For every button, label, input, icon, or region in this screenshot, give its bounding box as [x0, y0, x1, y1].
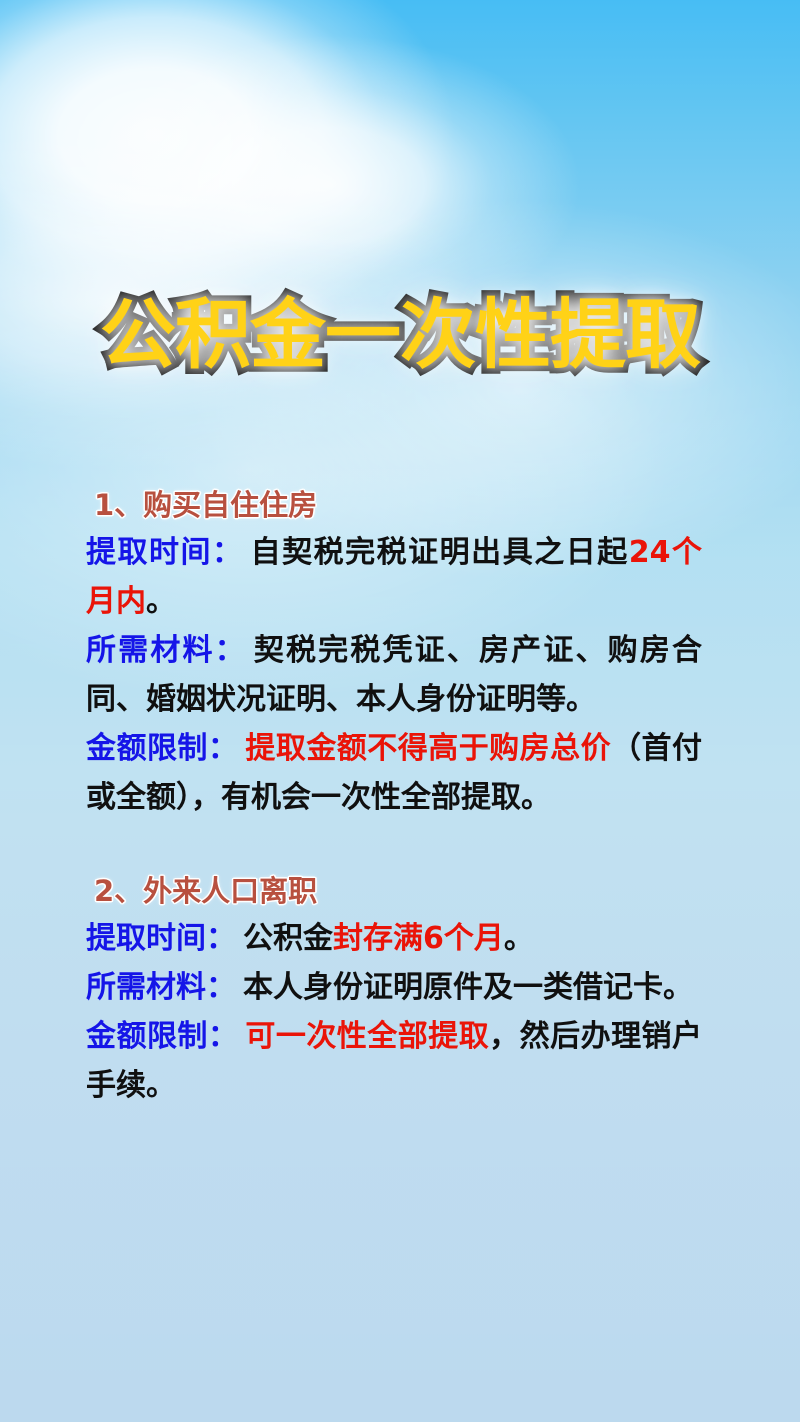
info-row-label: 金额限制： — [86, 1019, 238, 1054]
info-row-label: 提取时间： — [86, 921, 236, 956]
info-row-highlight: 封存满6个月 — [333, 921, 504, 956]
info-row: 所需材料：本人身份证明原件及一类借记卡。 — [86, 963, 702, 1012]
info-row-highlight: 提取金额不得高于购房总价 — [245, 731, 611, 766]
section-heading: 1、购买自住住房 — [94, 484, 702, 526]
info-row-text: 自契税完税证明出具之日起 — [251, 535, 629, 570]
info-row: 所需材料：契税完税凭证、房产证、购房合同、婚姻状况证明、本人身份证明等。 — [86, 626, 702, 724]
section-heading: 2、外来人口离职 — [94, 870, 702, 912]
info-row-text: 。 — [504, 921, 534, 956]
poster-body: 1、购买自住住房提取时间：自契税完税证明出具之日起24个月内。所需材料：契税完税… — [86, 484, 702, 1110]
content-section: 1、购买自住住房提取时间：自契税完税证明出具之日起24个月内。所需材料：契税完税… — [86, 484, 702, 822]
info-row-label: 所需材料： — [86, 970, 236, 1005]
info-row-highlight: 可一次性全部提取 — [245, 1019, 489, 1054]
info-row-text: 公积金 — [243, 921, 333, 956]
info-row-label: 提取时间： — [86, 535, 244, 570]
info-row-label: 所需材料： — [86, 633, 247, 668]
poster-title-block: 公积金一次性提取 — [0, 292, 800, 378]
info-row: 金额限制：提取金额不得高于购房总价（首付或全额），有机会一次性全部提取。 — [86, 724, 702, 822]
content-section: 2、外来人口离职提取时间：公积金封存满6个月。所需材料：本人身份证明原件及一类借… — [86, 870, 702, 1110]
poster-canvas: 公积金一次性提取 1、购买自住住房提取时间：自契税完税证明出具之日起24个月内。… — [0, 0, 800, 1422]
info-row-text: 。 — [146, 584, 176, 619]
info-row: 提取时间：自契税完税证明出具之日起24个月内。 — [86, 528, 702, 626]
info-row-text: 本人身份证明原件及一类借记卡。 — [243, 970, 693, 1005]
poster-title: 公积金一次性提取 — [100, 292, 700, 378]
poster-title-glow: 公积金一次性提取 — [100, 292, 700, 378]
info-row: 金额限制：可一次性全部提取，然后办理销户手续。 — [86, 1012, 702, 1110]
info-row: 提取时间：公积金封存满6个月。 — [86, 914, 702, 963]
info-row-label: 金额限制： — [86, 731, 238, 766]
